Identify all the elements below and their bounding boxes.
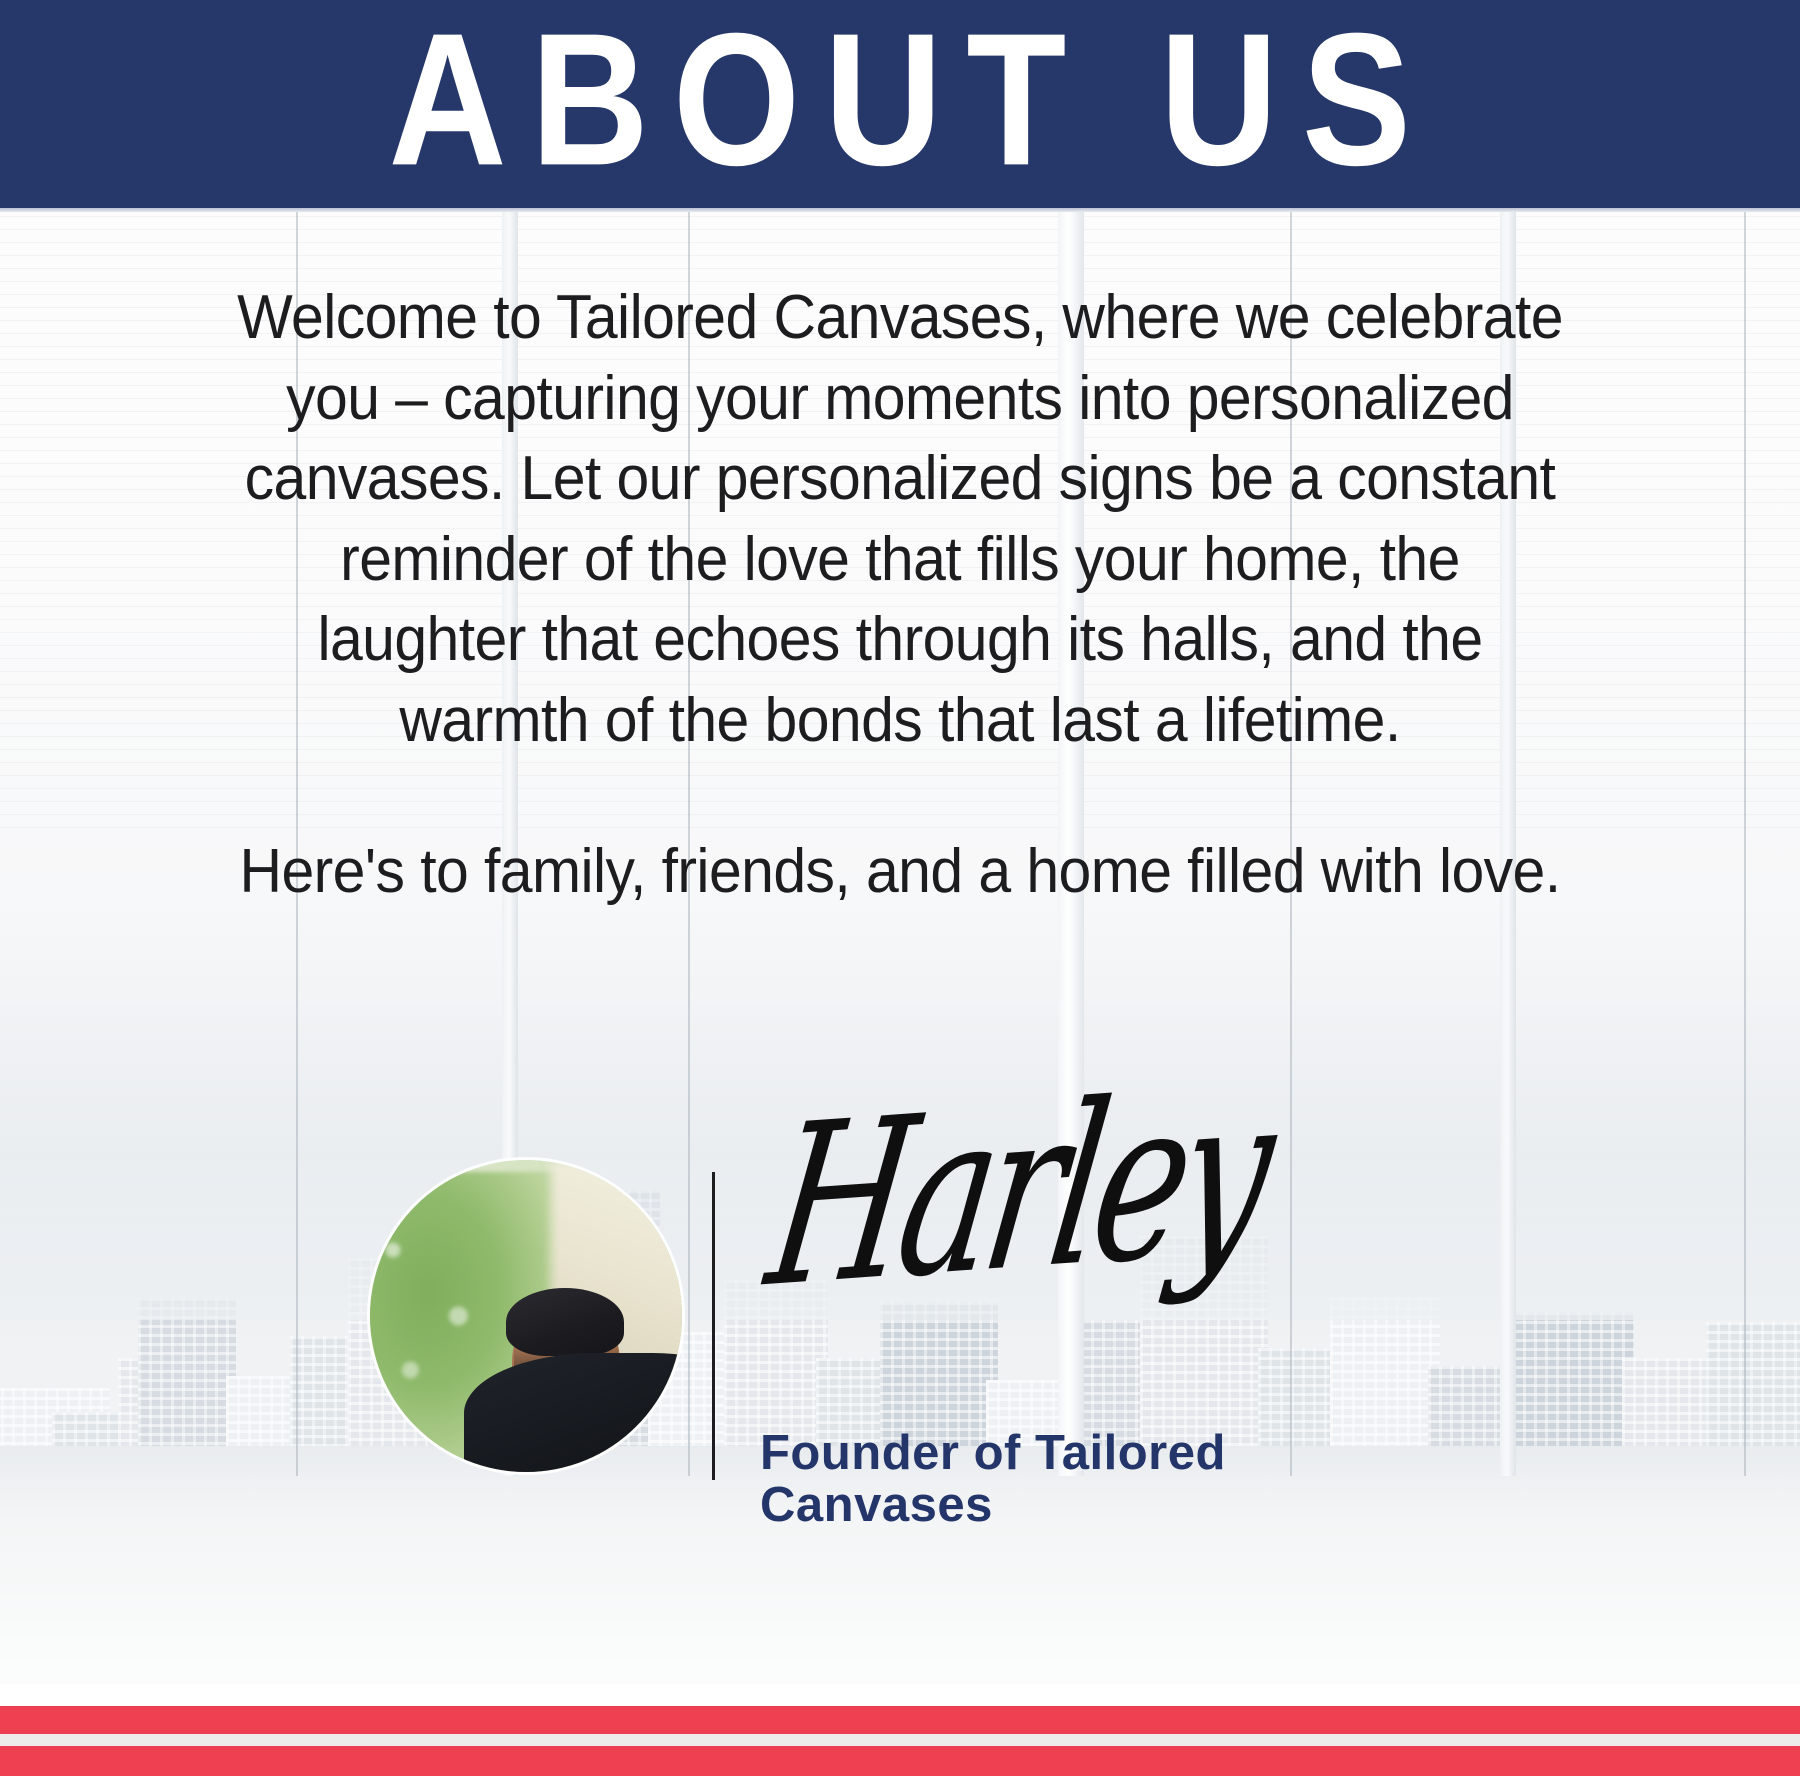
avatar — [370, 1160, 682, 1472]
about-paragraph-1: Welcome to Tailored Canvases, where we c… — [235, 278, 1565, 762]
avatar-hand — [580, 1355, 670, 1447]
header-underline — [0, 208, 1800, 212]
window-mullion — [1744, 190, 1746, 1476]
signature-name: Harley — [758, 1064, 1277, 1320]
about-copy: Welcome to Tailored Canvases, where we c… — [200, 278, 1600, 912]
about-us-poster: ABOUT US Welcome to Tailored Canvases, w… — [0, 0, 1800, 1776]
footer-whitespace — [0, 1684, 1800, 1706]
header-banner: ABOUT US — [0, 0, 1800, 208]
avatar-hair — [506, 1288, 624, 1356]
signature-role-line-1: Founder of Tailored — [760, 1428, 1280, 1480]
about-paragraph-2: Here's to family, friends, and a home fi… — [235, 832, 1565, 913]
signature-block: Harley Founder of Tailored Canvases — [360, 1150, 1360, 1530]
page-title: ABOUT US — [365, 5, 1435, 202]
signature-divider — [712, 1172, 715, 1480]
signature-role: Founder of Tailored Canvases — [760, 1428, 1280, 1532]
footer-bar-top — [0, 1706, 1800, 1734]
footer-bars — [0, 1684, 1800, 1776]
footer-bar-gap — [0, 1734, 1800, 1746]
signature-role-line-2: Canvases — [760, 1480, 1280, 1532]
footer-bar-bottom — [0, 1746, 1800, 1776]
